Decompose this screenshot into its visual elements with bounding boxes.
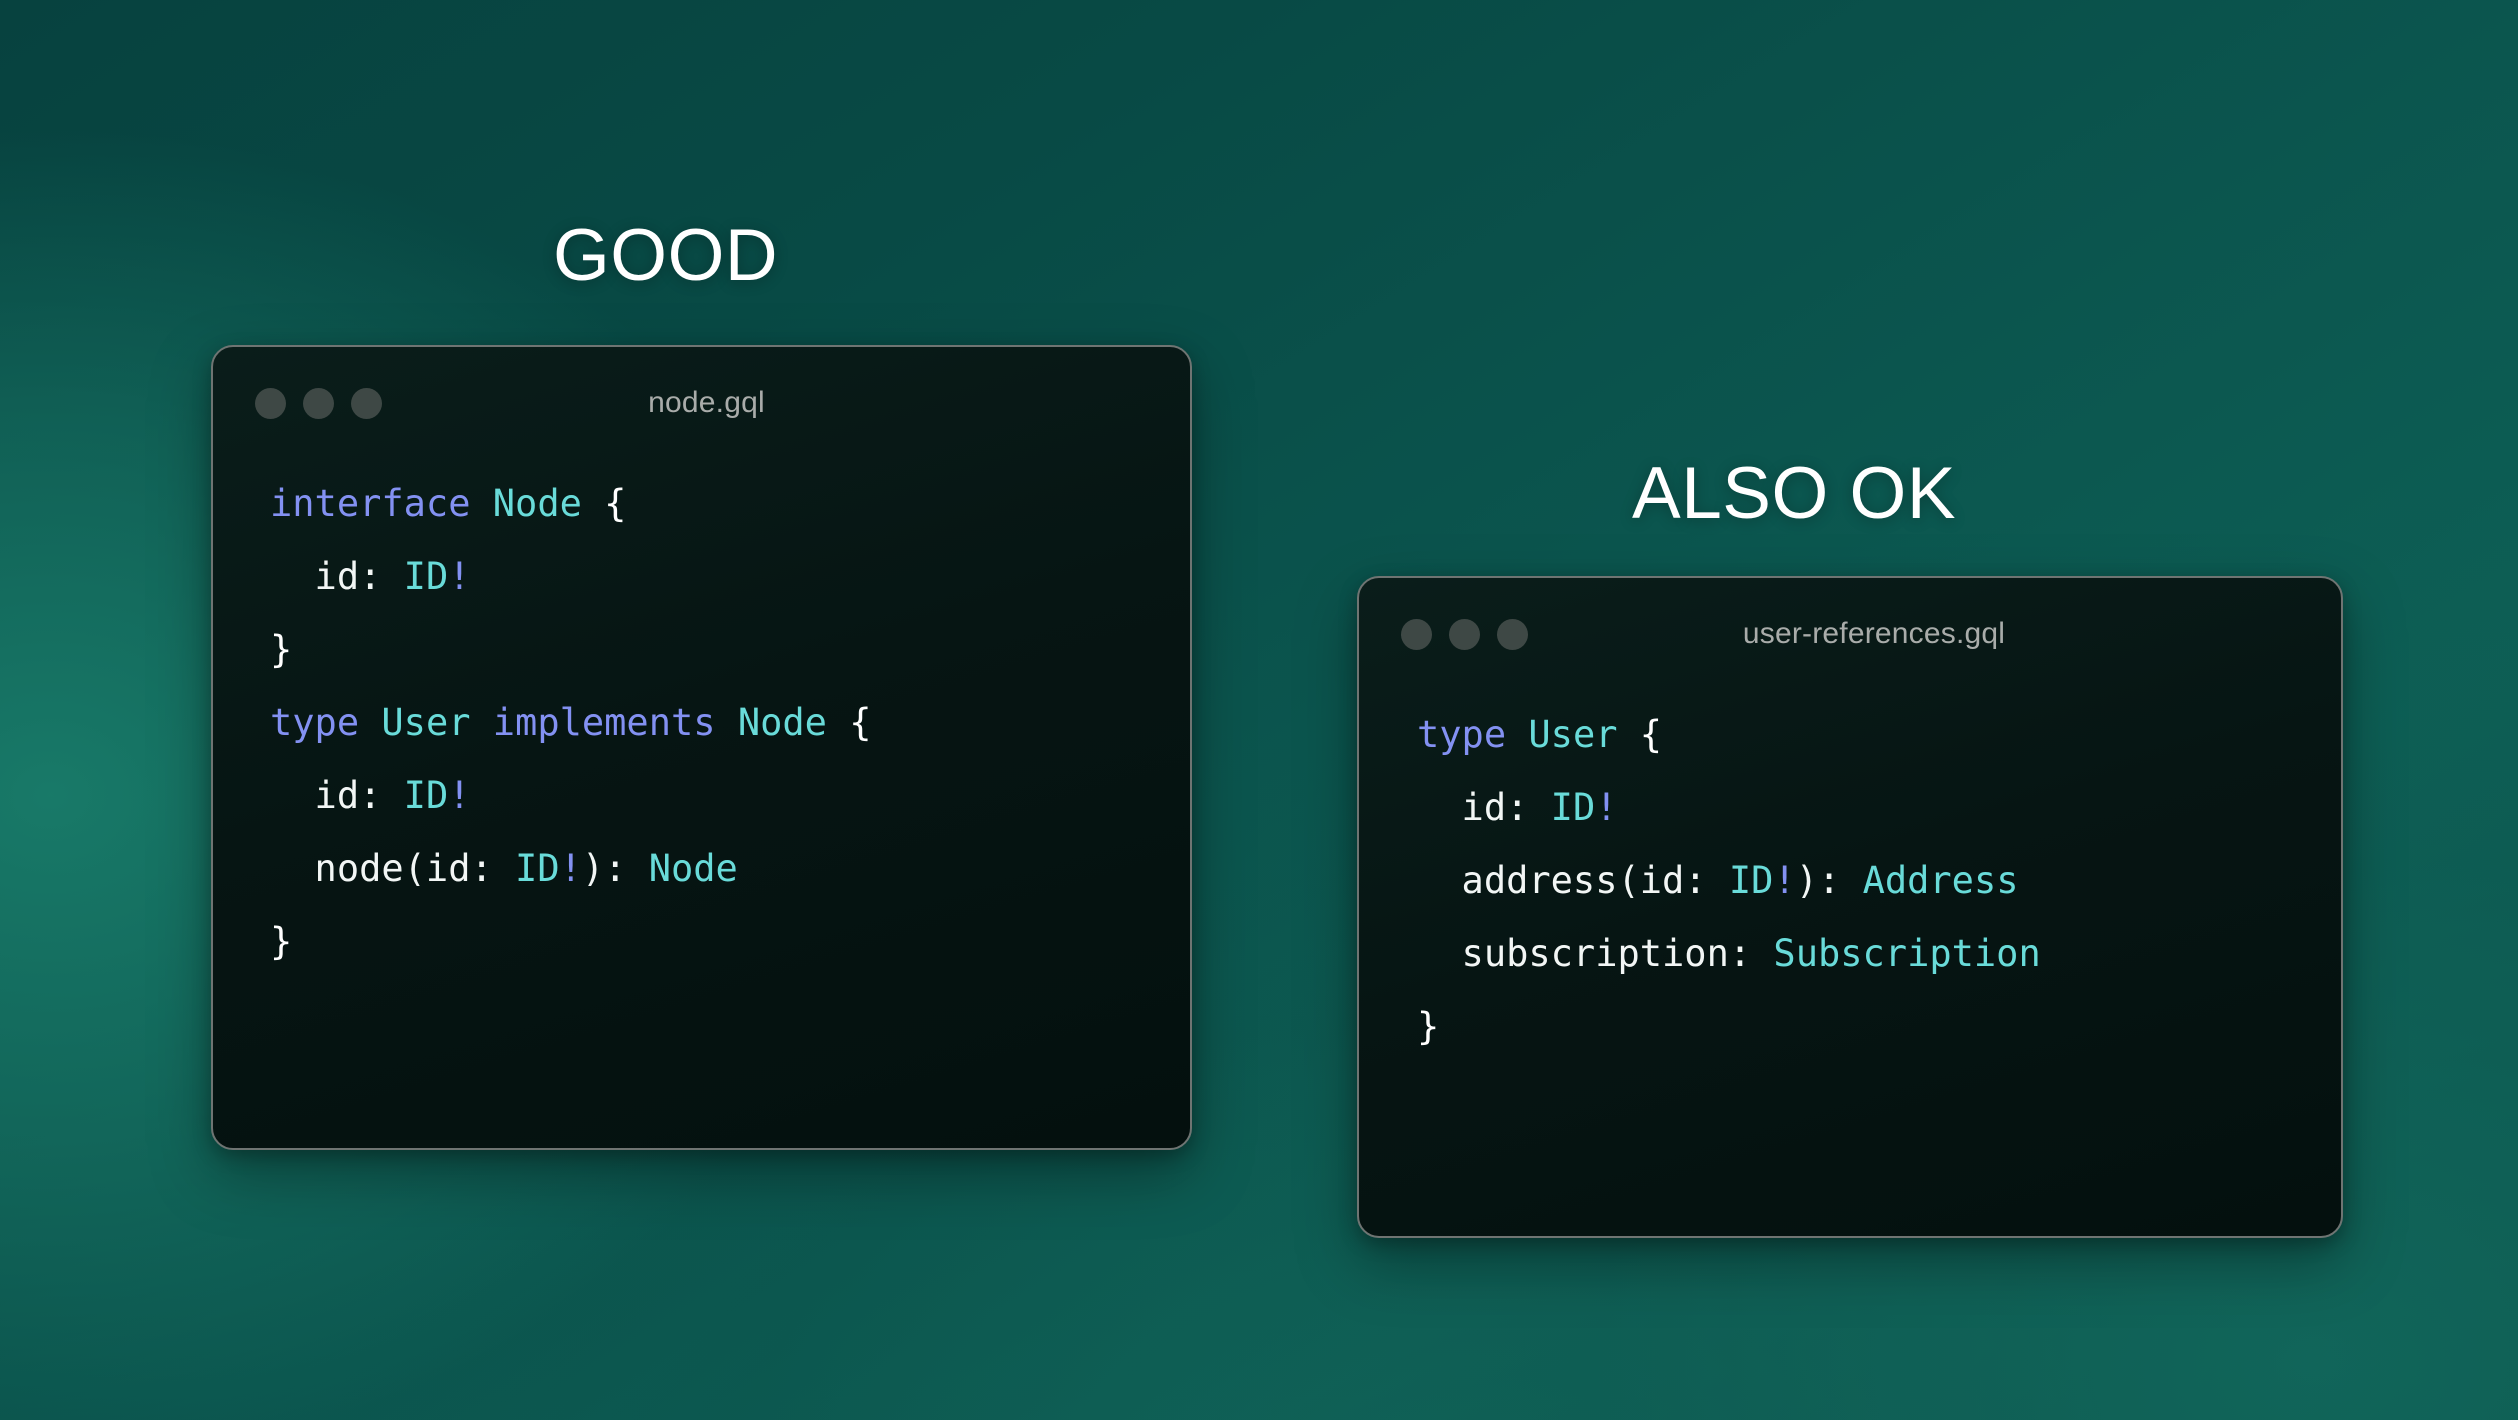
code-token-type: ID: [404, 774, 449, 817]
code-token-kw: interface: [270, 482, 470, 525]
code-token-type: Subscription: [1773, 932, 2040, 975]
code-token-plain: ):: [1796, 859, 1841, 902]
minimize-dot-icon[interactable]: [303, 388, 334, 419]
code-token-plain: node(id:: [270, 847, 493, 890]
maximize-dot-icon[interactable]: [1497, 619, 1528, 650]
code-token-kw: !: [1595, 786, 1617, 829]
code-line: address(id: ID!): Address: [1417, 844, 2341, 917]
code-token-type: Node: [493, 482, 582, 525]
code-token-type: Node: [649, 847, 738, 890]
code-token-plain: [381, 774, 403, 817]
code-token-type: Address: [1863, 859, 2019, 902]
code-line: id: ID!: [270, 540, 1190, 613]
code-token-plain: [1506, 713, 1528, 756]
code-token-punc: }: [1417, 1005, 1439, 1048]
code-token-punc: {: [827, 701, 872, 744]
panel-heading-good: GOOD: [553, 219, 778, 292]
code-token-plain: id:: [270, 555, 381, 598]
code-token-type: Node: [738, 701, 827, 744]
window-controls[interactable]: [1401, 619, 1528, 650]
code-token-plain: address(id:: [1417, 859, 1707, 902]
code-line: }: [270, 613, 1190, 686]
code-window-titlebar: user-references.gql: [1359, 578, 2341, 690]
code-window-titlebar: node.gql: [213, 347, 1190, 459]
code-token-punc: {: [1618, 713, 1663, 756]
code-line: subscription: Subscription: [1417, 917, 2341, 990]
maximize-dot-icon[interactable]: [351, 388, 382, 419]
code-token-type: ID: [1551, 786, 1596, 829]
code-window-node-gql[interactable]: node.gql interface Node { id: ID!}type U…: [211, 345, 1192, 1150]
code-token-type: ID: [1729, 859, 1774, 902]
code-token-kw: implements: [493, 701, 716, 744]
code-token-kw: !: [1773, 859, 1795, 902]
code-token-plain: [471, 701, 493, 744]
minimize-dot-icon[interactable]: [1449, 619, 1480, 650]
code-token-plain: [493, 847, 515, 890]
code-token-type: ID: [515, 847, 560, 890]
code-token-type: ID: [404, 555, 449, 598]
code-token-kw: !: [560, 847, 582, 890]
code-line: id: ID!: [270, 759, 1190, 832]
code-token-plain: id:: [270, 774, 381, 817]
code-content: interface Node { id: ID!}type User imple…: [213, 459, 1190, 978]
code-token-type: User: [1528, 713, 1617, 756]
code-token-plain: subscription:: [1417, 932, 1751, 975]
code-line: type User {: [1417, 698, 2341, 771]
code-token-punc: {: [582, 482, 627, 525]
code-token-plain: id:: [1417, 786, 1528, 829]
code-token-plain: [716, 701, 738, 744]
code-window-user-references-gql[interactable]: user-references.gql type User { id: ID! …: [1357, 576, 2343, 1238]
code-token-type: User: [381, 701, 470, 744]
code-token-plain: [470, 482, 492, 525]
close-dot-icon[interactable]: [1401, 619, 1432, 650]
code-line: interface Node {: [270, 467, 1190, 540]
panel-heading-also-ok: ALSO OK: [1632, 457, 1956, 530]
code-token-plain: [1751, 932, 1773, 975]
window-controls[interactable]: [255, 388, 382, 419]
code-line: }: [270, 905, 1190, 978]
code-token-kw: !: [448, 774, 470, 817]
code-token-kw: type: [1417, 713, 1506, 756]
code-token-kw: !: [448, 555, 470, 598]
code-line: type User implements Node {: [270, 686, 1190, 759]
close-dot-icon[interactable]: [255, 388, 286, 419]
code-token-plain: ):: [582, 847, 627, 890]
code-token-punc: }: [270, 628, 292, 671]
code-line: node(id: ID!): Node: [270, 832, 1190, 905]
code-token-kw: type: [270, 701, 359, 744]
code-token-plain: [1707, 859, 1729, 902]
code-line: }: [1417, 990, 2341, 1063]
code-token-plain: [1528, 786, 1550, 829]
code-token-punc: }: [270, 920, 292, 963]
code-content: type User { id: ID! address(id: ID!): Ad…: [1359, 690, 2341, 1063]
code-token-plain: [626, 847, 648, 890]
code-token-plain: [1840, 859, 1862, 902]
code-token-plain: [359, 701, 381, 744]
code-line: id: ID!: [1417, 771, 2341, 844]
code-token-plain: [381, 555, 403, 598]
